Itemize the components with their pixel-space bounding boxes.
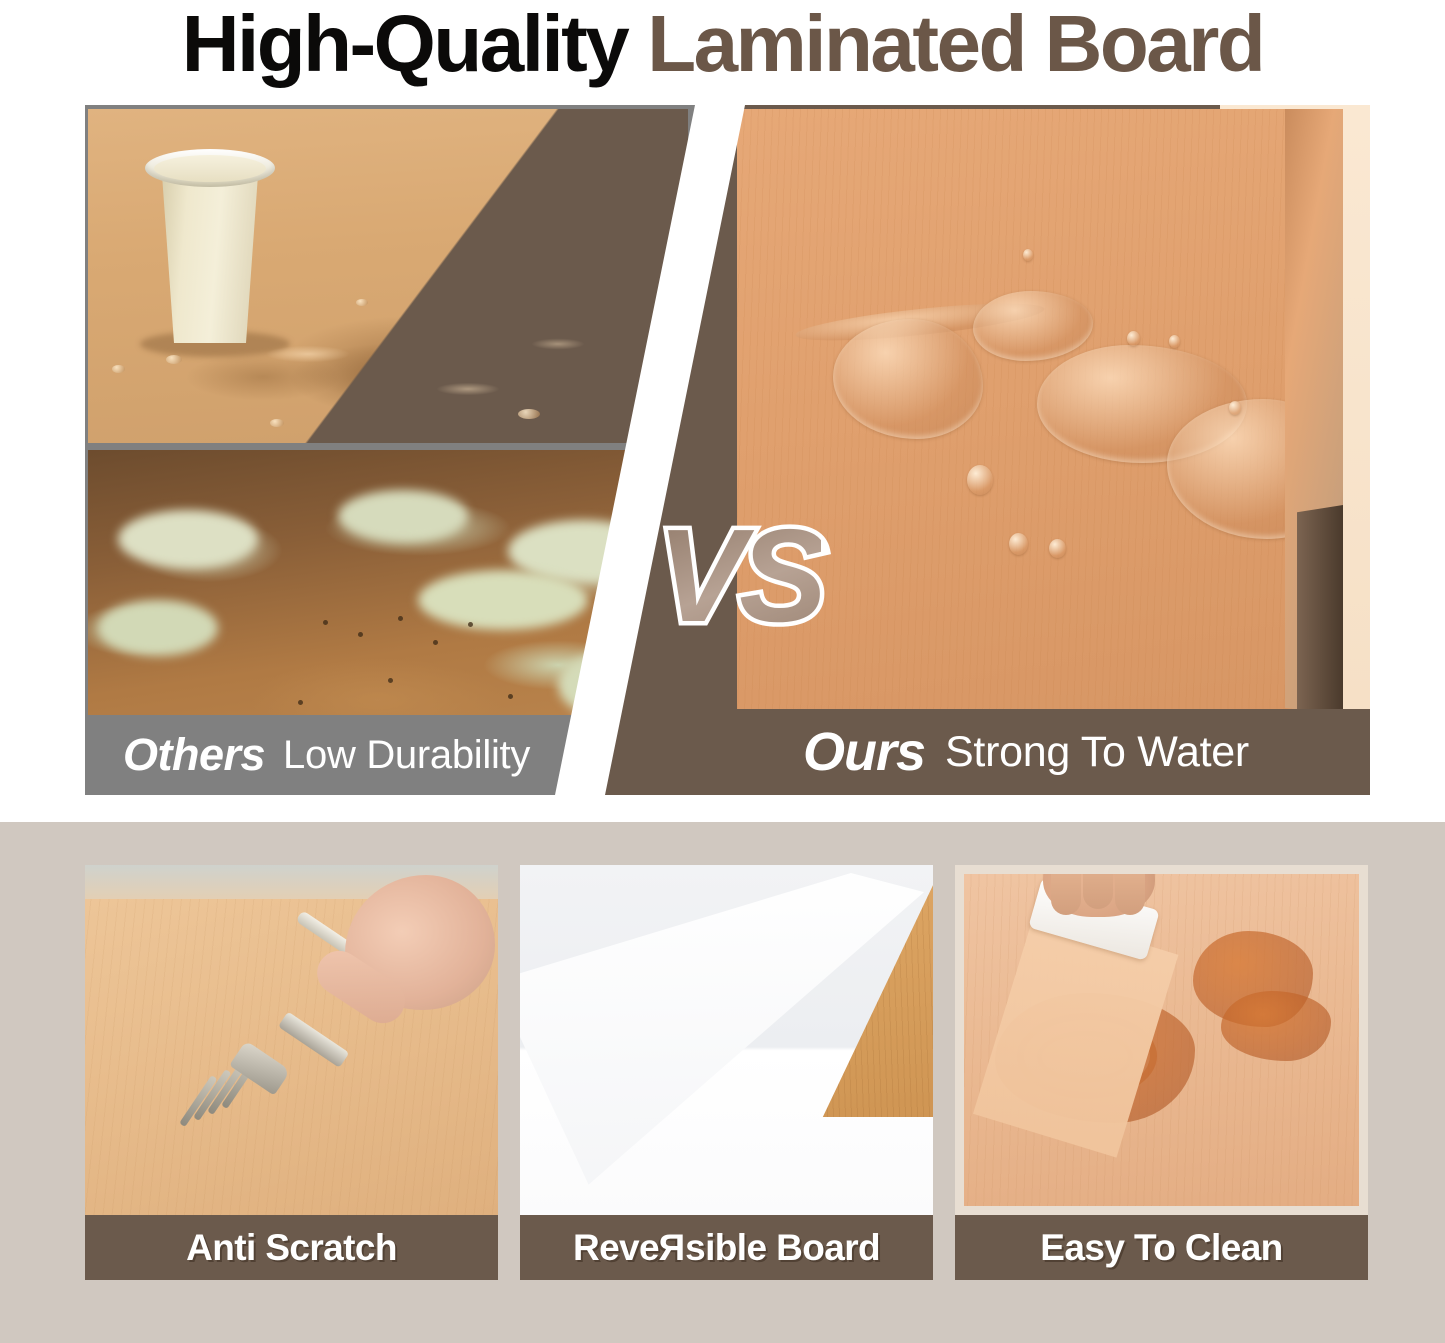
product-feature-graphic: High-Quality Laminated Board	[0, 0, 1445, 1343]
water-bead	[1009, 533, 1028, 555]
water-bead	[1229, 401, 1241, 415]
water-bead	[1169, 335, 1180, 348]
feature-tile-reversible: ReveRsible Board	[520, 865, 933, 1280]
feature-label-suffix: sible Board	[685, 1227, 880, 1268]
mold-speck	[388, 678, 393, 683]
mold-patch	[118, 510, 258, 568]
spill-droplet	[356, 299, 368, 306]
others-claim: Low Durability	[283, 733, 530, 778]
paper-cup-interior	[154, 155, 266, 182]
mold-speck	[468, 622, 473, 627]
feature-label: Easy To Clean	[1040, 1227, 1282, 1269]
spill-droplet	[270, 419, 284, 427]
feature-label: ReveRsible Board	[573, 1227, 880, 1269]
spilled-drink-photo	[88, 109, 688, 443]
water-bead	[967, 465, 993, 495]
mold-patch	[418, 570, 588, 630]
feature-caption-bar: ReveRsible Board	[520, 1215, 933, 1280]
feature-tile-anti-scratch: Anti Scratch	[85, 865, 498, 1280]
mold-speck	[298, 700, 303, 705]
feature-caption-bar: Anti Scratch	[85, 1215, 498, 1280]
vs-badge: VS	[657, 500, 821, 651]
feature-label-prefix: Reve	[573, 1227, 659, 1268]
spill-droplet	[166, 355, 182, 364]
reversible-board-photo	[520, 865, 933, 1215]
fork-scratching-board-photo	[85, 865, 498, 1215]
mold-speck	[323, 620, 328, 625]
mold-speck	[398, 616, 403, 621]
features-section: Anti Scratch ReveRsible Board	[0, 822, 1445, 1343]
water-bead	[1049, 539, 1066, 558]
mirrored-r-glyph: R	[659, 1227, 685, 1269]
page-title: High-Quality Laminated Board	[0, 0, 1445, 92]
ours-claim: Strong To Water	[945, 728, 1249, 777]
water-beading-photo	[737, 109, 1343, 715]
feature-caption-bar: Easy To Clean	[955, 1215, 1368, 1280]
spill-droplet	[518, 409, 540, 419]
feature-tile-list: Anti Scratch ReveRsible Board	[85, 865, 1370, 1280]
others-name: Others	[123, 729, 265, 781]
wiping-sauce-photo	[955, 865, 1368, 1215]
mold-speck	[508, 694, 513, 699]
ours-name: Ours	[803, 721, 925, 783]
board-edge-shadow	[1297, 505, 1343, 715]
spill-highlight	[238, 314, 618, 434]
water-bead	[1023, 249, 1033, 261]
comparison-block: Others Low Durability	[85, 105, 1370, 795]
mold-patch	[98, 600, 218, 656]
feature-label-text: Easy To Clean	[1040, 1227, 1282, 1268]
feature-label-text: Anti Scratch	[186, 1227, 397, 1268]
mold-speck	[433, 640, 438, 645]
water-pool	[833, 319, 983, 439]
headline-part-one: High-Quality	[182, 0, 628, 90]
water-pool	[973, 291, 1093, 361]
mold-speck	[358, 632, 363, 637]
photo-inner-border	[955, 865, 1368, 1215]
mold-patch	[338, 490, 468, 542]
headline-part-two: Laminated Board	[647, 0, 1263, 90]
feature-tile-easy-to-clean: Easy To Clean	[955, 865, 1368, 1280]
water-bead	[1127, 331, 1140, 346]
spill-droplet	[112, 365, 125, 373]
feature-label: Anti Scratch	[186, 1227, 397, 1269]
